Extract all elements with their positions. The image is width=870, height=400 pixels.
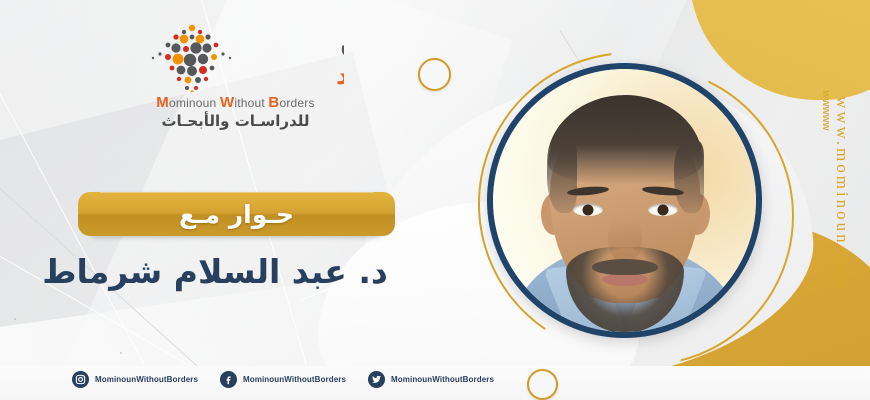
guest-portrait (487, 63, 762, 338)
logo-latin-word-2: ithout (234, 96, 268, 110)
background-speck (120, 352, 122, 354)
interview-banner: wwwww (0, 0, 870, 400)
section-title-label: حـوار مـع (179, 200, 294, 229)
logo-latin-wordmark: Mominoun Without Borders (128, 94, 343, 111)
guest-name: د. عبد السلام شرماط (0, 252, 430, 291)
social-link-twitter[interactable]: MominounWithoutBorders (368, 371, 494, 388)
instagram-icon[interactable] (72, 371, 89, 388)
portrait-eye-right (648, 203, 678, 216)
website-url[interactable]: www.mominoun.com (832, 96, 852, 291)
logo-arabic-subtitle: للدراسـات والأبحـاث (128, 112, 343, 130)
portrait-hair-side-left (547, 141, 577, 213)
social-link-facebook[interactable]: MominounWithoutBorders (220, 371, 346, 388)
logo-latin-word-1: ominoun (169, 96, 220, 110)
logo-initial-w: W (220, 94, 234, 111)
portrait-hair-side-right (674, 141, 704, 213)
social-label-facebook: MominounWithoutBorders (243, 375, 346, 384)
social-label-instagram: MominounWithoutBorders (95, 375, 198, 384)
organization-logo: مؤمنون بلا حدود Mominoun Without Borders… (128, 22, 343, 134)
logo-arabic-wordmark: مؤمنون بلا حدود (232, 22, 344, 92)
social-links-bar: MominounWithoutBorders MominounWithoutBo… (72, 371, 494, 388)
decor-ring-small-bottom (527, 369, 558, 400)
decor-ring-small-top (418, 58, 451, 91)
twitter-icon[interactable] (368, 371, 385, 388)
svg-text:بلا حدود: بلا حدود (336, 61, 344, 91)
portrait-pupil-left (583, 204, 594, 215)
portrait-pupil-right (658, 204, 669, 215)
portrait-eye-left (573, 203, 603, 216)
logo-dot-diamond-icon (146, 24, 238, 92)
decor-zigzag: wwwww (823, 90, 830, 130)
social-link-instagram[interactable]: MominounWithoutBorders (72, 371, 198, 388)
logo-latin-word-3: orders (279, 96, 314, 110)
portrait-mustache (592, 259, 658, 275)
svg-text:مؤمنون: مؤمنون (340, 25, 344, 59)
social-label-twitter: MominounWithoutBorders (391, 375, 494, 384)
logo-initial-m: M (156, 94, 169, 111)
facebook-icon[interactable] (220, 371, 237, 388)
portrait-image (493, 69, 756, 332)
logo-initial-b: B (268, 94, 279, 111)
section-title-bar: حـوار مـع (88, 192, 385, 236)
background-speck (14, 318, 16, 320)
